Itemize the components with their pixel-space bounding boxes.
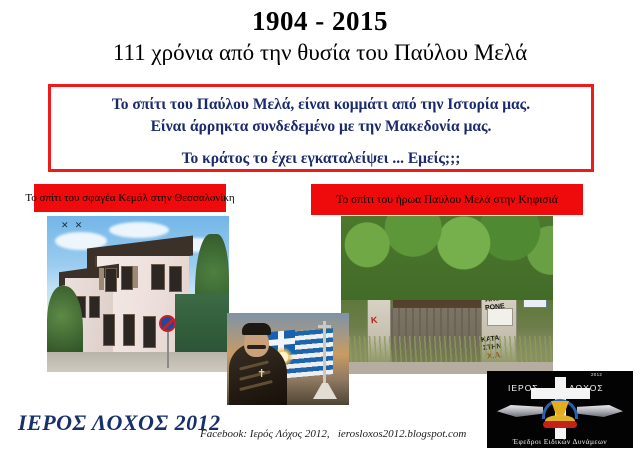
- window-shape: [89, 296, 100, 318]
- shutter-shape: [99, 268, 104, 290]
- pavement: [47, 352, 229, 372]
- logo-snake-band-icon: [543, 421, 577, 428]
- pavlos-melas-portrait-photo: ✝: [227, 313, 349, 405]
- page-title-years: 1904 - 2015: [0, 6, 640, 37]
- logo-tagline: Έφεδροι Ειδικών Δυνάμεων: [487, 437, 633, 446]
- statement-line-2: Είναι άρρηκτα συνδεδεμένο με την Μακεδον…: [51, 116, 591, 138]
- melas-house-kifissia-photo: ΑΚΟ ΡΟΝΕ KATA ΣΤΗΝ Χ.Α. K: [341, 216, 553, 374]
- tree-canopy: [341, 216, 553, 300]
- figure-moustache: [247, 345, 266, 349]
- statement-line-1: Το σπίτι του Παύλου Μελά, είναι κομμάτι …: [51, 94, 591, 116]
- page-subtitle: 111 χρόνια από την θυσία του Παύλου Μελά: [0, 39, 640, 68]
- flag-pole-cross-icon: [318, 325, 331, 328]
- kemal-house-thessaloniki-photo: ✕ ✕: [47, 216, 229, 372]
- logo-wing-icon: [577, 405, 623, 417]
- logo-year: 2012: [591, 372, 602, 377]
- graffiti-mark: K: [371, 316, 378, 326]
- flag-pole-base: [313, 383, 337, 399]
- statement-box: Το σπίτι του Παύλου Μελά, είναι κομμάτι …: [48, 84, 594, 172]
- window-shape: [103, 314, 115, 346]
- window-shape: [121, 266, 133, 290]
- figure-hat: [242, 323, 271, 335]
- logo-word-left: ΙΕΡΟΣ: [508, 383, 539, 393]
- statement-line-3: Το κράτος το έχει εγκαταλείψει ... Εμείς…: [51, 148, 591, 170]
- window-shape: [143, 316, 156, 348]
- flag-pole: [323, 321, 326, 391]
- logo-wing-icon: [497, 405, 543, 417]
- brand-wordmark: ΙΕΡΟΣ ΛΟΧΟΣ 2012: [18, 410, 221, 436]
- shutter-shape: [133, 266, 138, 288]
- window-shape: [123, 314, 135, 346]
- logo-word-right: ΛΟΧΟΣ: [569, 383, 604, 393]
- window-shape: [151, 264, 165, 290]
- footer-links: Facebook: Ιερός Λόχος 2012, ierosloxos20…: [200, 428, 466, 440]
- window-shape: [169, 266, 182, 292]
- birds-silhouette: ✕ ✕: [61, 220, 84, 231]
- caption-right-photo: Το σπίτι του ήρωα Παύλου Μελά στην Κηφισ…: [311, 184, 583, 215]
- caption-left-photo: Το σπίτι του σφαγέα Κεμάλ στην Θεσσαλονί…: [34, 184, 226, 212]
- poster-canvas: 1904 - 2015 111 χρόνια από την θυσία του…: [0, 0, 640, 452]
- poster-header: 1904 - 2015 111 χρόνια από την θυσία του…: [0, 6, 640, 68]
- chest-cross-icon: ✝: [257, 369, 266, 380]
- window-shape: [105, 268, 117, 292]
- ieros-lochos-logo: 2012 ΙΕΡΟΣ ΛΟΧΟΣ Έφεδροι Ειδικών Δυνάμεω…: [487, 371, 633, 448]
- cloud-shape: [109, 222, 169, 238]
- green-fence: [175, 294, 229, 356]
